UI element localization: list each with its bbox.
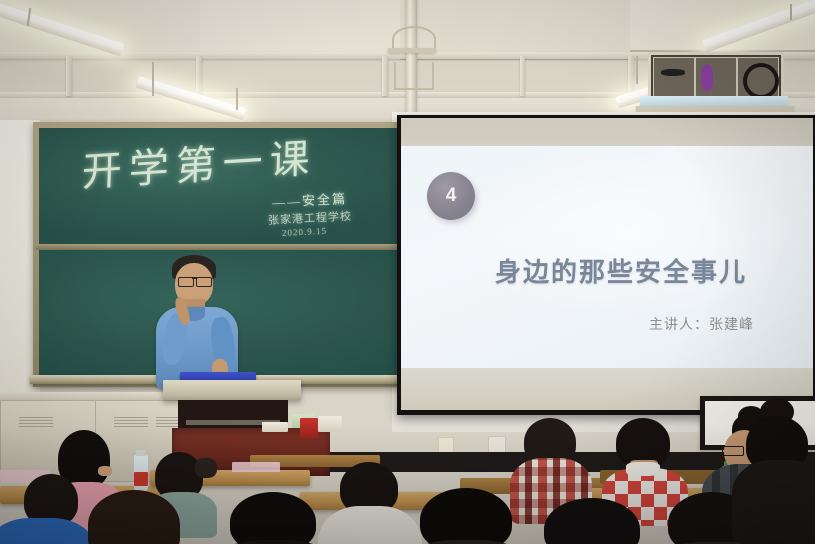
light-hanger [236,88,238,110]
pole-bracket [388,48,436,53]
white-box [318,416,342,432]
slide-presenter: 主讲人：张建峰 [649,314,754,334]
lectern-top [163,380,301,400]
light-hanger [636,56,638,84]
light-hanger [790,4,792,20]
light-hanger [152,62,154,96]
ceiling-beam-vertical [196,56,202,96]
ceiling-beam-vertical [382,56,388,96]
ceiling-beam-vertical [66,56,72,96]
slide-number-badge: 4 [427,172,475,220]
red-carton-on-desk [300,418,318,438]
projection-screen-surface: 4 身边的那些安全事儿 主讲人：张建峰 [401,118,813,410]
ceiling-beam-vertical [628,56,634,96]
pole-brace [394,62,434,90]
bottle-label [134,472,148,486]
projector-pole [406,0,417,118]
presentation-slide: 4 身边的那些安全事儿 主讲人：张建峰 [401,146,813,368]
classroom-photo: 开学第一课 ——安全篇 张家港工程学校 2020.9.15 4 身边的那些安全事… [0,0,815,544]
bottle-cap [136,450,146,456]
ceiling-beam-vertical [520,56,525,96]
papers-on-desk [262,422,288,432]
papers-on-desk [232,462,280,472]
ceiling-panel [200,0,400,58]
slide-title: 身边的那些安全事儿 [495,252,747,289]
